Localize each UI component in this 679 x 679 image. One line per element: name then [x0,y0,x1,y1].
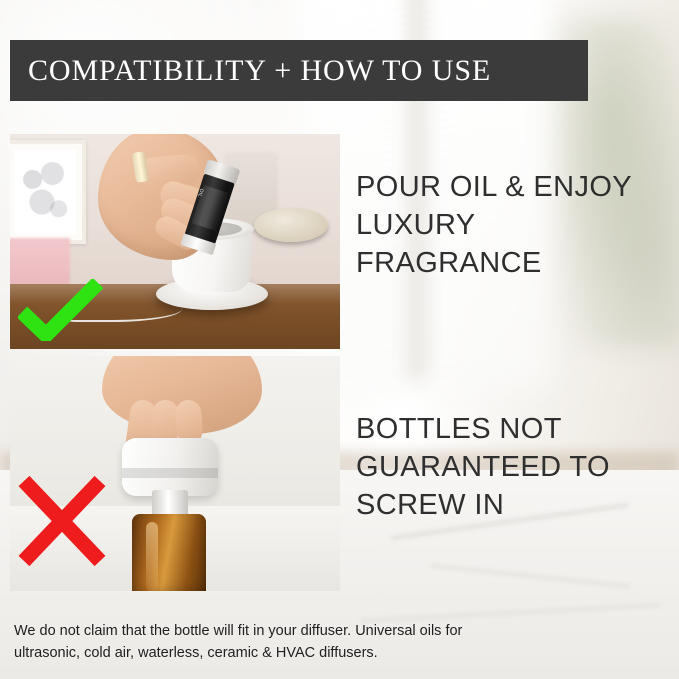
diffuser-lid [122,438,218,496]
product-infographic: COMPATIBILITY + HOW TO USE OIL [0,0,679,679]
title-banner: COMPATIBILITY + HOW TO USE [10,40,588,101]
wall-picture-frame [10,140,86,244]
diffuser-lid-band [122,468,218,478]
footer-line-1: We do not claim that the bottle will fit… [14,620,664,642]
bottle-highlight [146,522,158,591]
framed-artwork [14,150,76,234]
x-mark-icon [16,475,108,567]
photo-correct-usage: OIL [10,134,340,349]
footer-disclaimer: We do not claim that the bottle will fit… [14,620,664,664]
amber-oil-bottle [132,514,206,591]
headline-bottles-not-guaranteed: BOTTLES NOT GUARANTEED TO SCREW IN [356,410,666,524]
stone-coaster [254,208,328,242]
footer-line-2: ultrasonic, cold air, waterless, ceramic… [14,642,664,664]
headline-pour-oil: POUR OIL & ENJOY LUXURY FRAGRANCE [356,168,666,282]
page-title: COMPATIBILITY + HOW TO USE [10,54,491,88]
photo-incorrect-usage [10,356,340,591]
check-mark-icon [18,279,104,341]
